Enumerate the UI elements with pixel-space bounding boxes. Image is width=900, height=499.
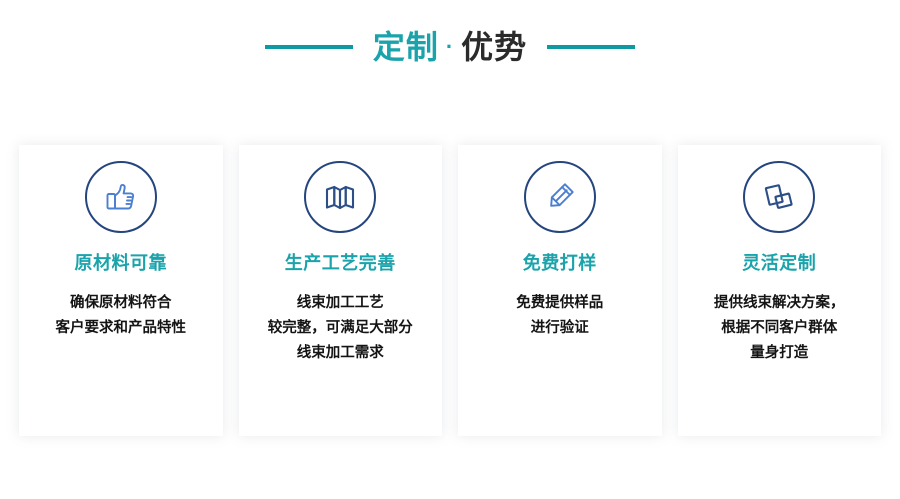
advantage-card-list: 原材料可靠 确保原材料符合 客户要求和产品特性 生产工艺完善 (19, 145, 881, 436)
page-title-separator: · (445, 34, 455, 60)
heading-rule-left (265, 45, 353, 49)
heading-rule-right (547, 45, 635, 49)
advantage-card[interactable]: 免费打样 免费提供样品 进行验证 (458, 145, 662, 436)
advantage-card-title: 免费打样 (523, 253, 597, 275)
body-line: 提供线束解决方案， (714, 291, 845, 316)
page-title: 定制 · 优势 (373, 28, 527, 66)
body-line: 确保原材料符合 (56, 291, 187, 316)
advantage-card-title: 生产工艺完善 (285, 253, 396, 275)
body-line: 免费提供样品 (516, 291, 603, 316)
page-title-plain: 优势 (461, 28, 527, 66)
page-title-accent: 定制 (373, 28, 439, 66)
section-heading: 定制 · 优势 (0, 28, 900, 66)
body-line: 进行验证 (516, 316, 603, 341)
body-line: 线束加工需求 (268, 341, 413, 366)
advantage-card[interactable]: 生产工艺完善 线束加工工艺 较完整，可满足大部分 线束加工需求 (239, 145, 443, 436)
advantage-card-body: 确保原材料符合 客户要求和产品特性 (48, 291, 195, 342)
icon-circle (85, 161, 157, 233)
icon-circle (304, 161, 376, 233)
stacked-cards-icon (760, 178, 798, 216)
body-line: 线束加工工艺 (268, 291, 413, 316)
pencil-icon (541, 178, 579, 216)
advantage-card-title: 原材料可靠 (75, 253, 168, 275)
body-line: 客户要求和产品特性 (56, 316, 187, 341)
advantage-card-body: 线束加工工艺 较完整，可满足大部分 线束加工需求 (260, 291, 421, 367)
thumbs-up-icon (102, 178, 140, 216)
body-line: 根据不同客户群体 (714, 316, 845, 341)
advantage-card-title: 灵活定制 (742, 253, 816, 275)
icon-circle (524, 161, 596, 233)
advantage-card-body: 提供线束解决方案， 根据不同客户群体 量身打造 (706, 291, 853, 367)
body-line: 较完整，可满足大部分 (268, 316, 413, 341)
icon-circle (743, 161, 815, 233)
advantage-card[interactable]: 原材料可靠 确保原材料符合 客户要求和产品特性 (19, 145, 223, 436)
body-line: 量身打造 (714, 341, 845, 366)
advantage-card-body: 免费提供样品 进行验证 (508, 291, 611, 342)
advantage-card[interactable]: 灵活定制 提供线束解决方案， 根据不同客户群体 量身打造 (678, 145, 882, 436)
folded-map-icon (321, 178, 359, 216)
advantages-section: 定制 · 优势 原材料可靠 确保原 (0, 0, 900, 499)
